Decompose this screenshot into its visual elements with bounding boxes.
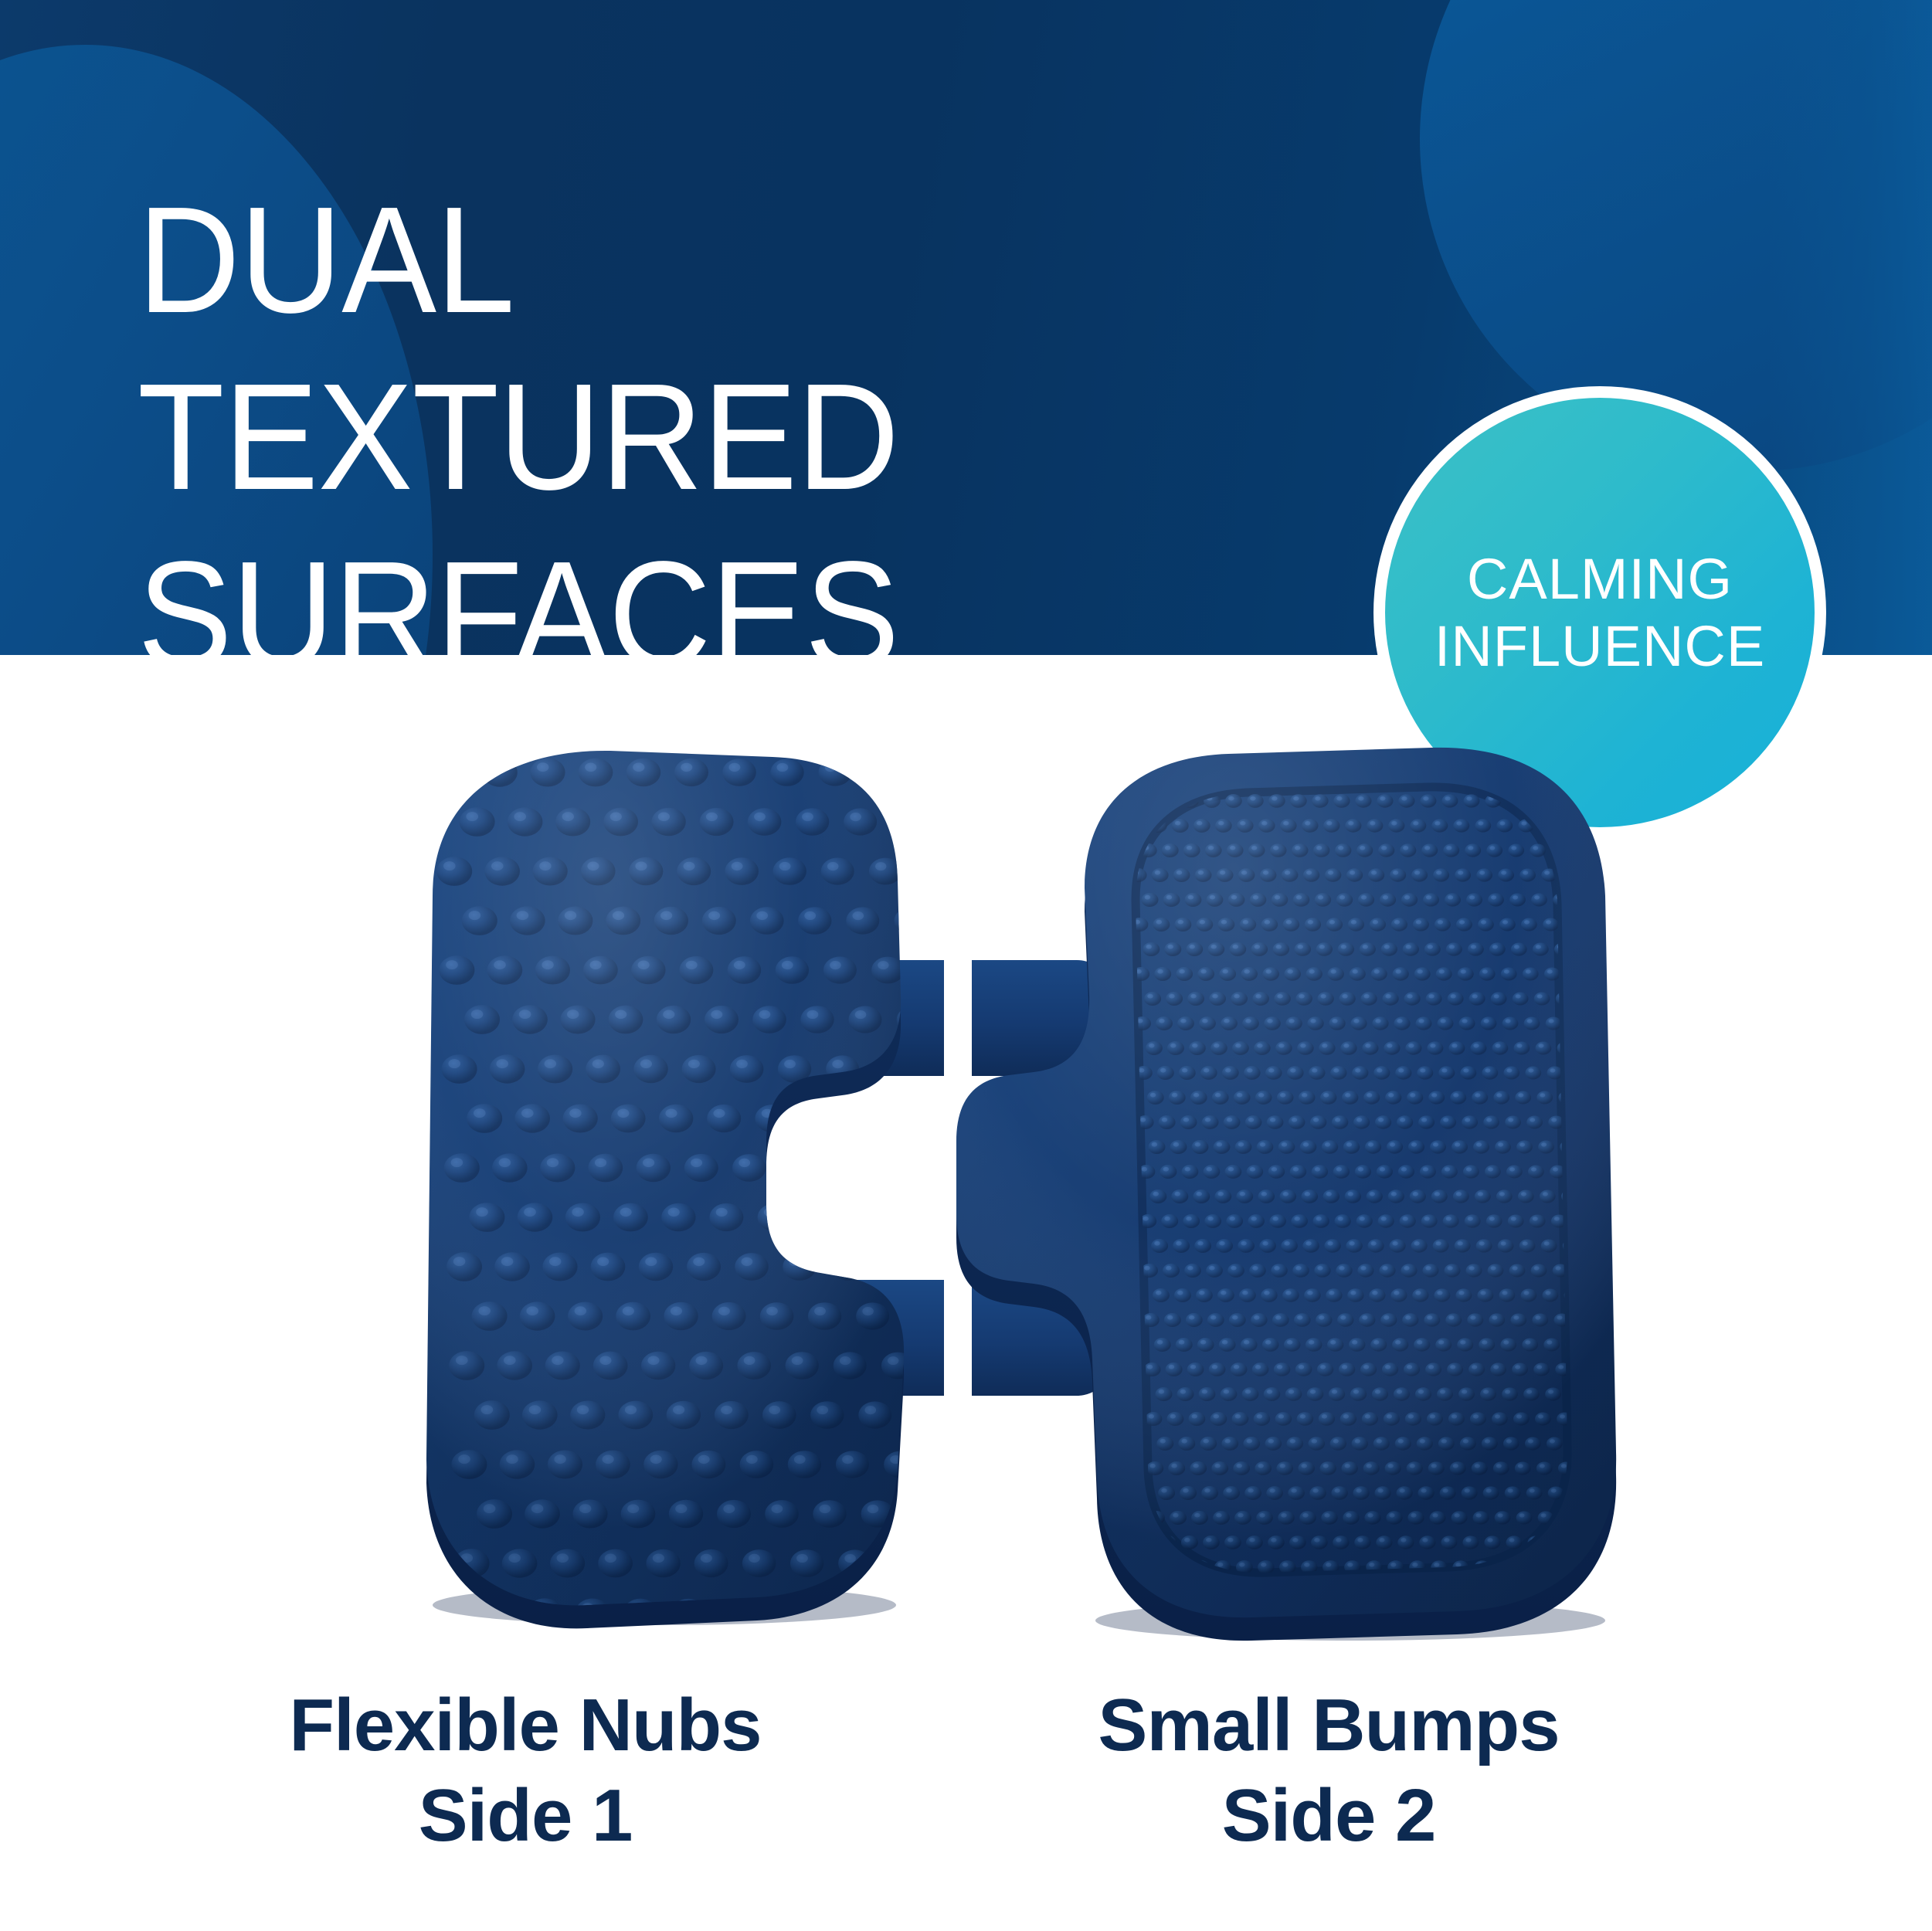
right-pad — [956, 748, 1698, 1648]
right-pad-inset-rim — [1136, 787, 1567, 1573]
left-pad — [426, 751, 1040, 1677]
right-pad-sheen — [956, 748, 1616, 1617]
right-pad-body — [956, 748, 1616, 1617]
caption-side-2: Small Bumps Side 2 — [997, 1680, 1661, 1861]
left-pad-body — [426, 751, 904, 1605]
left-pad-nub-texture — [434, 758, 1040, 1677]
calming-influence-badge: CALMING INFLUENCE — [1373, 386, 1826, 839]
left-pad-base — [426, 774, 904, 1628]
badge-fill: CALMING INFLUENCE — [1385, 398, 1815, 827]
right-pad-shadow — [1095, 1600, 1605, 1641]
left-pad-sheen — [426, 751, 904, 1605]
connector-bars — [803, 946, 1112, 1410]
right-pad-base — [956, 771, 1616, 1641]
connector-bar-top — [803, 960, 1112, 1076]
badge-line-2: INFLUENCE — [1435, 613, 1765, 680]
caption-side-1: Flexible Nubs Side 1 — [193, 1680, 857, 1861]
right-pad-bump-texture — [1127, 769, 1698, 1648]
badge-line-1: CALMING — [1467, 545, 1733, 613]
left-pad-shadow — [433, 1585, 896, 1625]
page-title: DUAL TEXTURED SURFACES — [138, 171, 1270, 703]
connector-bar-bottom — [803, 1280, 1112, 1396]
connector-gap — [944, 946, 972, 1410]
product-feature-card: DUAL TEXTURED SURFACES CALMING INFLUENCE — [0, 0, 1932, 1931]
